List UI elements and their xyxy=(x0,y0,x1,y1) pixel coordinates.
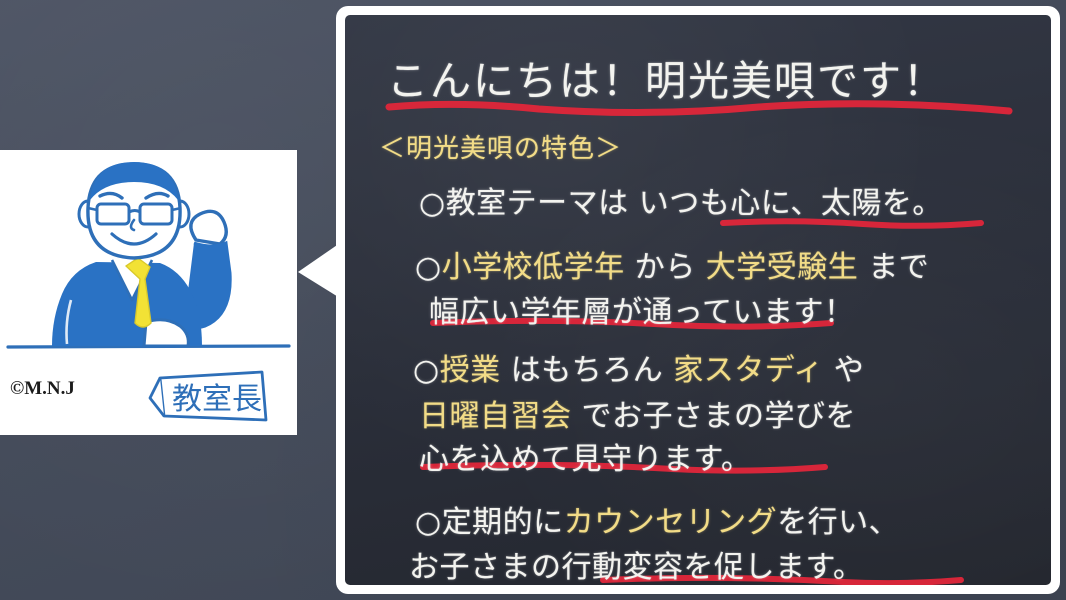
bullet-3-line-1: ○授業 はもちろん 家スタディ や xyxy=(413,345,864,389)
bullet-2-marker: ○ xyxy=(415,250,442,285)
bullet-3-line-2: 日曜自習会 でお子さまの学びを xyxy=(419,391,856,435)
bullet-4-line-1: ○定期的にカウンセリングを行い、 xyxy=(415,497,899,541)
bullet-3-line-3-seg-1: 心を込めて見守ります。 xyxy=(419,442,752,477)
board-title: こんにちは！明光美唄です！ xyxy=(387,47,946,107)
bullet-3-line-3: 心を込めて見守ります。 xyxy=(419,434,752,478)
person-head xyxy=(79,162,189,258)
bullet-3-seg-2: はもちろん xyxy=(501,353,674,388)
bullet-4-marker: ○ xyxy=(415,505,442,540)
bullet-3-line-2-seg-2: でお子さまの学びを xyxy=(572,399,857,434)
illustration-card: 教室長 ©M.N.J xyxy=(0,150,297,435)
bullet-3-line-2-seg-1: 日曜自習会 xyxy=(419,399,572,434)
chalkboard-surface: こんにちは！明光美唄です！ ＜明光美唄の特色＞ ○教室テーマは いつも心に、太陽… xyxy=(345,15,1051,585)
bullet-4-seg-3: を行い、 xyxy=(777,505,899,540)
board-subtitle: ＜明光美唄の特色＞ xyxy=(379,128,622,165)
bullet-2-line-2: 幅広い学年層が通っています！ xyxy=(429,287,855,331)
bullet-1-seg-2: いつも心に、太陽を xyxy=(639,186,913,221)
bullet-1-marker: ○ xyxy=(419,186,446,221)
bullet-3-seg-4: や xyxy=(824,353,865,388)
copyright-text: ©M.N.J xyxy=(10,378,75,400)
bullet-1-seg-1: 教室テーマは xyxy=(446,186,639,221)
nameplate-icon: 教室長 xyxy=(150,372,266,420)
bullet-3-seg-3: 家スタディ xyxy=(673,353,823,388)
bullet-4-seg-1: 定期的に xyxy=(442,505,564,540)
bullet-2-line-2-seg-1: 幅広い学年層が通っています！ xyxy=(429,295,855,330)
bullet-2-seg-1: 小学校低学年 xyxy=(442,250,625,285)
bullet-4-line-2-seg-1: お子さまの xyxy=(409,550,562,585)
bullet-4-seg-2: カウンセリング xyxy=(564,505,778,540)
bullet-3-seg-1: 授業 xyxy=(440,353,501,388)
bullet-2-seg-2: から xyxy=(625,250,706,285)
bullet-4-line-2-seg-2: 行動変容を促します xyxy=(562,550,834,585)
chalkboard-frame: こんにちは！明光美唄です！ ＜明光美唄の特色＞ ○教室テーマは いつも心に、太陽… xyxy=(336,6,1060,594)
bullet-2-seg-4: まで xyxy=(858,250,929,285)
bullet-4-line-2-seg-3: 。 xyxy=(833,550,864,585)
bullet-4-line-2: お子さまの行動変容を促します。 xyxy=(409,542,864,585)
bullet-1-line-1: ○教室テーマは いつも心に、太陽を。 xyxy=(419,178,943,222)
bullet-2-line-1: ○小学校低学年 から 大学受験生 まで xyxy=(415,242,929,286)
bullet-1-seg-3: 。 xyxy=(912,186,943,221)
nameplate-label: 教室長 xyxy=(172,382,262,417)
slide-canvas: 教室長 ©M.N.J こんにちは！明光美唄です！ xyxy=(0,0,1066,600)
person-icon xyxy=(52,260,202,346)
bullet-2-seg-3: 大学受験生 xyxy=(706,250,859,285)
bullet-3-marker: ○ xyxy=(413,353,440,388)
